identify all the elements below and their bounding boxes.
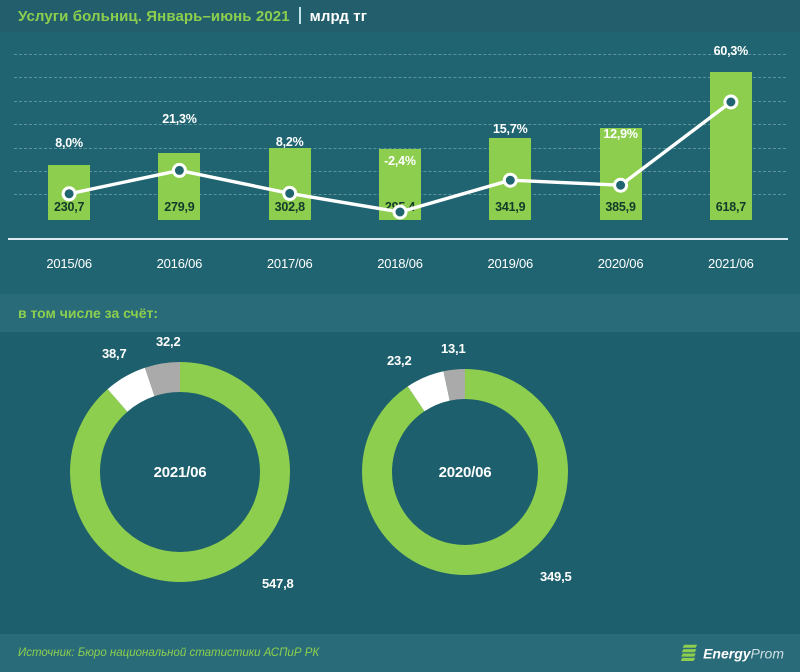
donut-value-label: 349,5 (540, 569, 572, 584)
energyprom-logo-mark-icon (681, 644, 698, 663)
donut-panel: 2021/06547,838,732,22020/06349,523,213,1… (0, 332, 800, 634)
bar-column[interactable]: 230,7 (48, 165, 90, 220)
donut-center-label: 2020/06 (352, 359, 578, 585)
growth-percent-label: 8,2% (250, 135, 330, 149)
title-bar: Услуги больниц. Январь–июнь 2021млрд тг (0, 0, 800, 32)
growth-percent-label: 60,3% (691, 44, 771, 58)
page-title-main: Услуги больниц. Январь–июнь 2021 (18, 8, 290, 25)
x-axis-tick-label: 2017/06 (235, 256, 345, 271)
growth-percent-label: 15,7% (470, 122, 550, 136)
page-title: Услуги больниц. Январь–июнь 2021млрд тг (18, 7, 367, 25)
bar-column[interactable]: 618,7 (710, 72, 752, 220)
footer-bar: Источник: Бюро национальной статистики А… (0, 634, 800, 672)
energyprom-logo[interactable]: EnergyProm (681, 644, 784, 663)
x-axis-tick-label: 2018/06 (345, 256, 455, 271)
bar-value-label: 302,8 (269, 200, 311, 214)
donut-2020: 2020/06 (352, 359, 578, 585)
infographic-page: Услуги больниц. Январь–июнь 2021млрд тг … (0, 0, 800, 672)
bar-column[interactable]: 385,9 (600, 128, 642, 220)
growth-percent-label: 8,0% (29, 136, 109, 150)
donut-value-label: 547,8 (262, 576, 294, 591)
bar-value-label: 385,9 (600, 200, 642, 214)
bar-value-label: 230,7 (48, 200, 90, 214)
donut-center-label: 2021/06 (60, 352, 300, 592)
bar-column[interactable]: 279,9 (158, 153, 200, 220)
bar-value-label: 618,7 (710, 200, 752, 214)
gridline (14, 124, 786, 125)
x-axis-tick-label: 2016/06 (124, 256, 234, 271)
x-axis-tick-label: 2020/06 (565, 256, 675, 271)
bar-column[interactable]: 341,9 (489, 138, 531, 220)
x-axis-tick-label: 2019/06 (455, 256, 565, 271)
gridline (14, 54, 786, 55)
donut-value-label: 38,7 (102, 346, 127, 361)
title-divider (299, 7, 301, 24)
donut-value-label: 13,1 (441, 341, 466, 356)
bar-column[interactable]: 302,8 (269, 148, 311, 220)
page-title-unit: млрд тг (310, 8, 367, 25)
donut-value-label: 32,2 (156, 334, 181, 349)
x-axis-tick-label: 2015/06 (14, 256, 124, 271)
logo-text-energy: Energy (703, 645, 750, 661)
energyprom-logo-text: EnergyProm (703, 645, 784, 661)
x-axis-line (8, 238, 788, 240)
growth-percent-label: 21,3% (139, 112, 219, 126)
bar-value-label: 279,9 (158, 200, 200, 214)
gridline (14, 101, 786, 102)
growth-percent-label: -2,4% (360, 154, 440, 168)
section-title: в том числе за счёт: (18, 305, 158, 321)
growth-percent-label: 12,9% (581, 127, 661, 141)
bar-chart-panel: 230,7279,9302,8295,4341,9385,9618,7 2015… (0, 32, 800, 294)
donut-2021: 2021/06 (60, 352, 300, 592)
x-axis-tick-label: 2021/06 (676, 256, 786, 271)
bar-value-label: 295,4 (379, 200, 421, 214)
bar-value-label: 341,9 (489, 200, 531, 214)
source-note: Источник: Бюро национальной статистики А… (18, 647, 319, 659)
donut-value-label: 23,2 (387, 353, 412, 368)
gridline (14, 77, 786, 78)
logo-text-prom: Prom (751, 645, 784, 661)
section-band: в том числе за счёт: (0, 294, 800, 332)
